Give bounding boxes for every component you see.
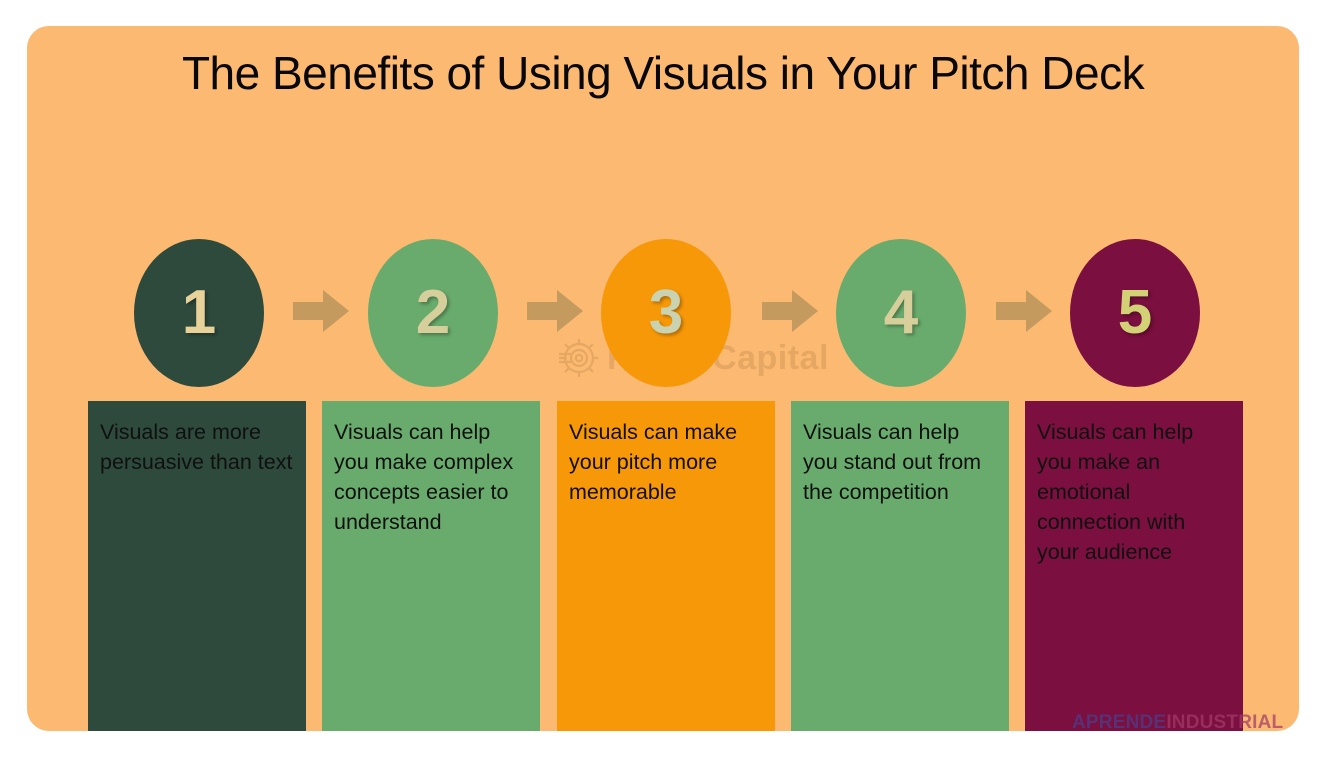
step-text-3: Visuals can make your pitch more memorab… (569, 417, 763, 507)
arrow-right-icon (996, 288, 1052, 334)
step-circle-3: 3 (601, 239, 731, 387)
step-box-5: Visuals can help you make an emotional c… (1025, 401, 1243, 731)
step-circle-2: 2 (368, 239, 498, 387)
step-box-4: Visuals can help you stand out from the … (791, 401, 1009, 731)
step-number-3: 3 (649, 282, 683, 344)
step-number-2: 2 (416, 282, 450, 344)
step-text-4: Visuals can help you stand out from the … (803, 417, 997, 507)
step-box-3: Visuals can make your pitch more memorab… (557, 401, 775, 731)
arrow-right-icon (527, 288, 583, 334)
step-text-5: Visuals can help you make an emotional c… (1037, 417, 1231, 567)
aprende-industrial-watermark: APRENDEINDUSTRIAL (1072, 712, 1283, 731)
gear-icon (557, 336, 601, 380)
brand-watermark-part-two: INDUSTRIAL (1166, 712, 1283, 731)
step-box-2: Visuals can help you make complex concep… (322, 401, 540, 731)
brand-watermark-part-one: APRENDE (1072, 712, 1166, 731)
step-circle-4: 4 (836, 239, 966, 387)
step-number-5: 5 (1118, 282, 1152, 344)
step-box-1: Visuals are more persuasive than text (88, 401, 306, 731)
step-circle-1: 1 (134, 239, 264, 387)
step-number-1: 1 (182, 282, 216, 344)
slide-card: The Benefits of Using Visuals in Your Pi… (27, 26, 1299, 731)
step-text-1: Visuals are more persuasive than text (100, 417, 294, 477)
arrow-right-icon (293, 288, 349, 334)
step-number-4: 4 (884, 282, 918, 344)
step-circle-5: 5 (1070, 239, 1200, 387)
arrow-right-icon (762, 288, 818, 334)
step-text-2: Visuals can help you make complex concep… (334, 417, 528, 537)
page-title: The Benefits of Using Visuals in Your Pi… (27, 46, 1299, 100)
